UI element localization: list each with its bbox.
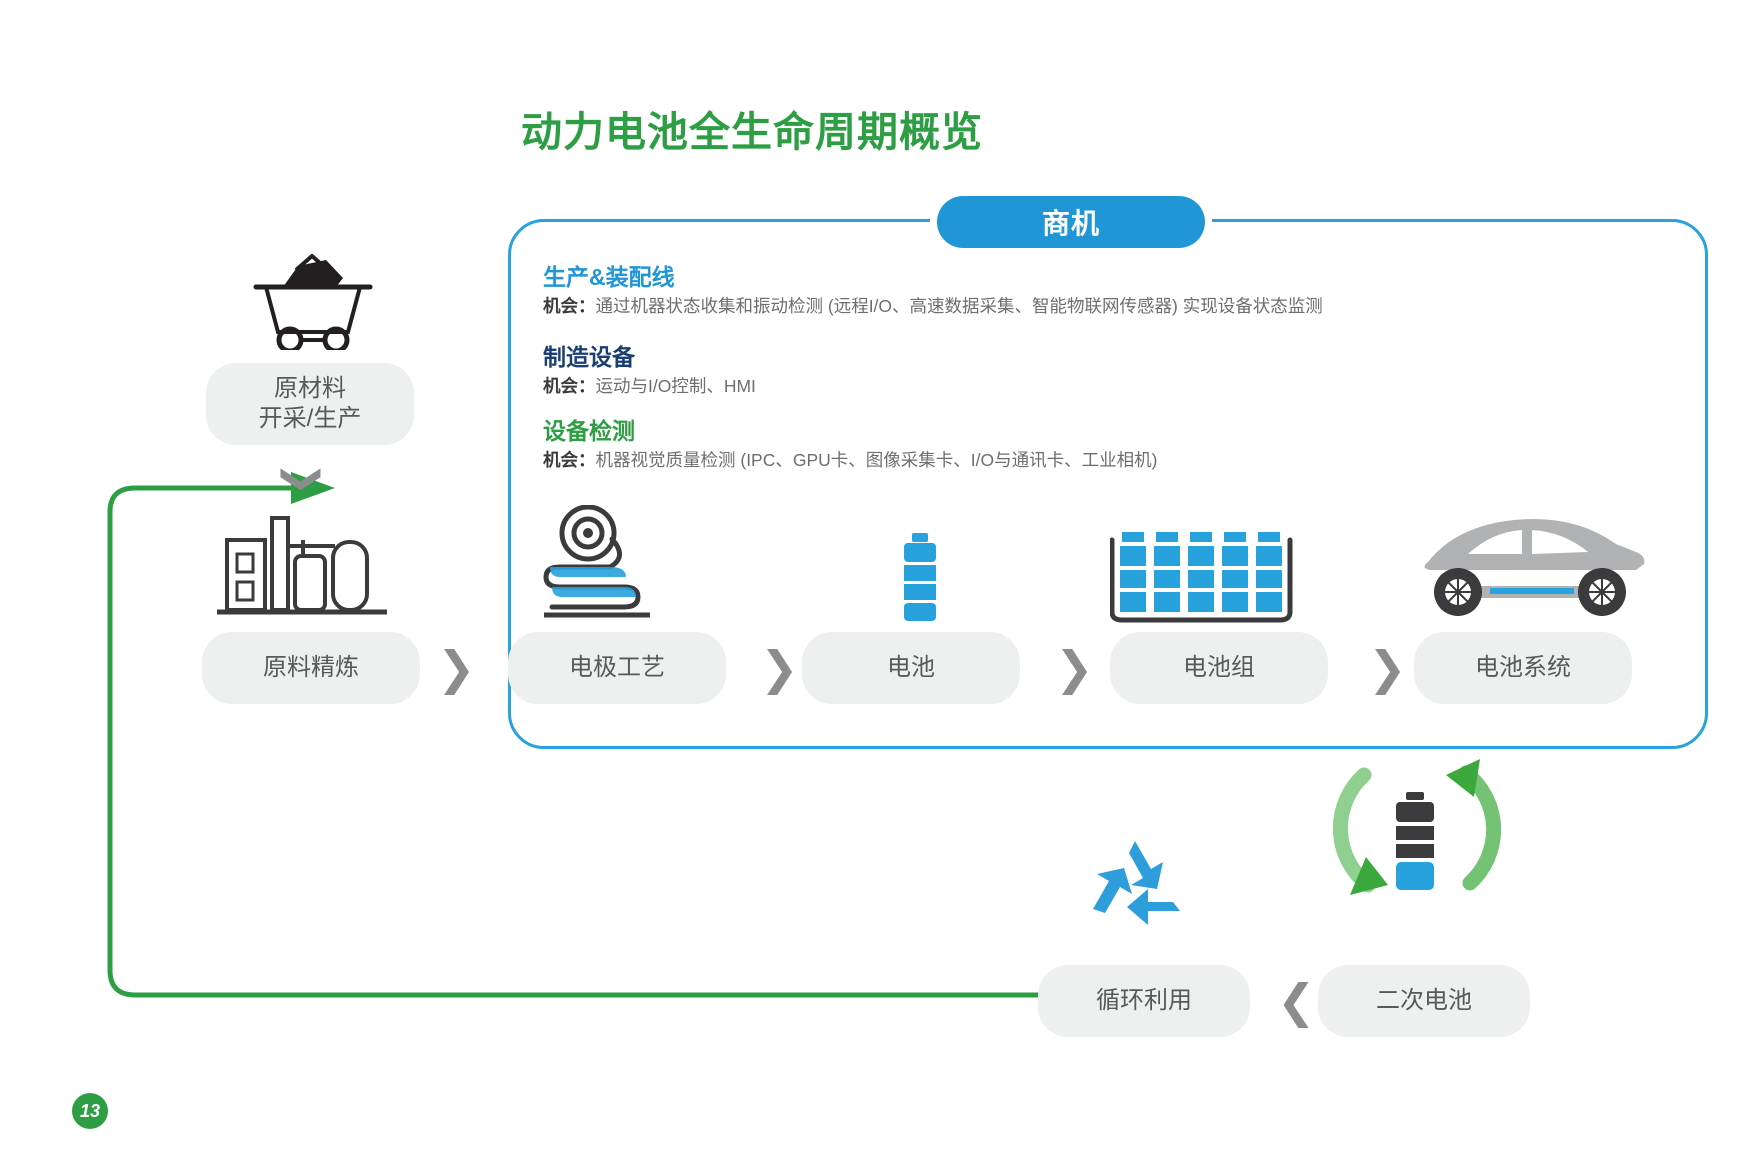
stage-refining[interactable]: 原料精炼 — [202, 632, 420, 704]
opportunity-label: 机会： — [543, 296, 596, 316]
section-heading: 设备检测 — [543, 419, 1157, 444]
chevron-left-icon: ❮ — [1277, 978, 1316, 1024]
page-number-badge: 13 — [72, 1093, 108, 1129]
recycle-icon — [1085, 835, 1185, 935]
chevron-right-icon-1: ❯ — [437, 645, 476, 691]
stage-system[interactable]: 电池系统 — [1414, 632, 1632, 704]
opportunity-section-production: 生产&装配线 机会：通过机器状态收集和振动检测 (远程I/O、高速数据采集、智能… — [543, 265, 1323, 317]
mining-cart-icon — [248, 240, 378, 350]
refinery-plant-icon — [215, 510, 390, 620]
electrode-coil-icon — [540, 505, 670, 625]
opportunity-label: 机会： — [543, 450, 596, 470]
opportunity-section-inspection: 设备检测 机会：机器视觉质量检测 (IPC、GPU卡、图像采集卡、I/O与通讯卡… — [543, 419, 1157, 471]
chevron-down-icon: ❯ — [283, 462, 323, 496]
opportunity-section-manufacturing: 制造设备 机会：运动与I/O控制、HMI — [543, 345, 756, 397]
stage-cell[interactable]: 电池 — [802, 632, 1020, 704]
battery-module-icon — [1110, 532, 1300, 627]
section-heading: 生产&装配线 — [543, 265, 1323, 290]
second-life-battery-icon — [1388, 792, 1442, 896]
stage-electrode[interactable]: 电极工艺 — [508, 632, 726, 704]
stage-second-life[interactable]: 二次电池 — [1318, 965, 1530, 1037]
section-body: 机会：机器视觉质量检测 (IPC、GPU卡、图像采集卡、I/O与通讯卡、工业相机… — [543, 450, 1157, 471]
opportunity-text: 通过机器状态收集和振动检测 (远程I/O、高速数据采集、智能物联网传感器) 实现… — [596, 296, 1323, 316]
opportunity-text: 运动与I/O控制、HMI — [596, 376, 756, 396]
battery-cell-icon — [890, 533, 950, 625]
stage-raw-material[interactable]: 原材料 开采/生产 — [206, 363, 414, 445]
page-title: 动力电池全生命周期概览 — [0, 98, 1634, 158]
opportunity-tag: 商机 — [937, 196, 1205, 248]
stage-recycle[interactable]: 循环利用 — [1038, 965, 1250, 1037]
chevron-right-icon-2: ❯ — [760, 645, 799, 691]
stage-label-line1: 原材料 — [274, 374, 346, 404]
slide-canvas: 动力电池全生命周期概览 商机 生产&装配线 机会：通过机器状态收集和振动检测 (… — [0, 0, 1764, 1172]
ev-car-icon — [1410, 500, 1650, 622]
chevron-right-icon-4: ❯ — [1368, 645, 1407, 691]
chevron-right-icon-3: ❯ — [1055, 645, 1094, 691]
opportunity-label: 机会： — [543, 376, 596, 396]
section-body: 机会：通过机器状态收集和振动检测 (远程I/O、高速数据采集、智能物联网传感器)… — [543, 296, 1323, 317]
section-body: 机会：运动与I/O控制、HMI — [543, 376, 756, 397]
stage-label-line2: 开采/生产 — [259, 404, 362, 434]
stage-module[interactable]: 电池组 — [1110, 632, 1328, 704]
section-heading: 制造设备 — [543, 345, 756, 370]
opportunity-text: 机器视觉质量检测 (IPC、GPU卡、图像采集卡、I/O与通讯卡、工业相机) — [596, 450, 1158, 470]
